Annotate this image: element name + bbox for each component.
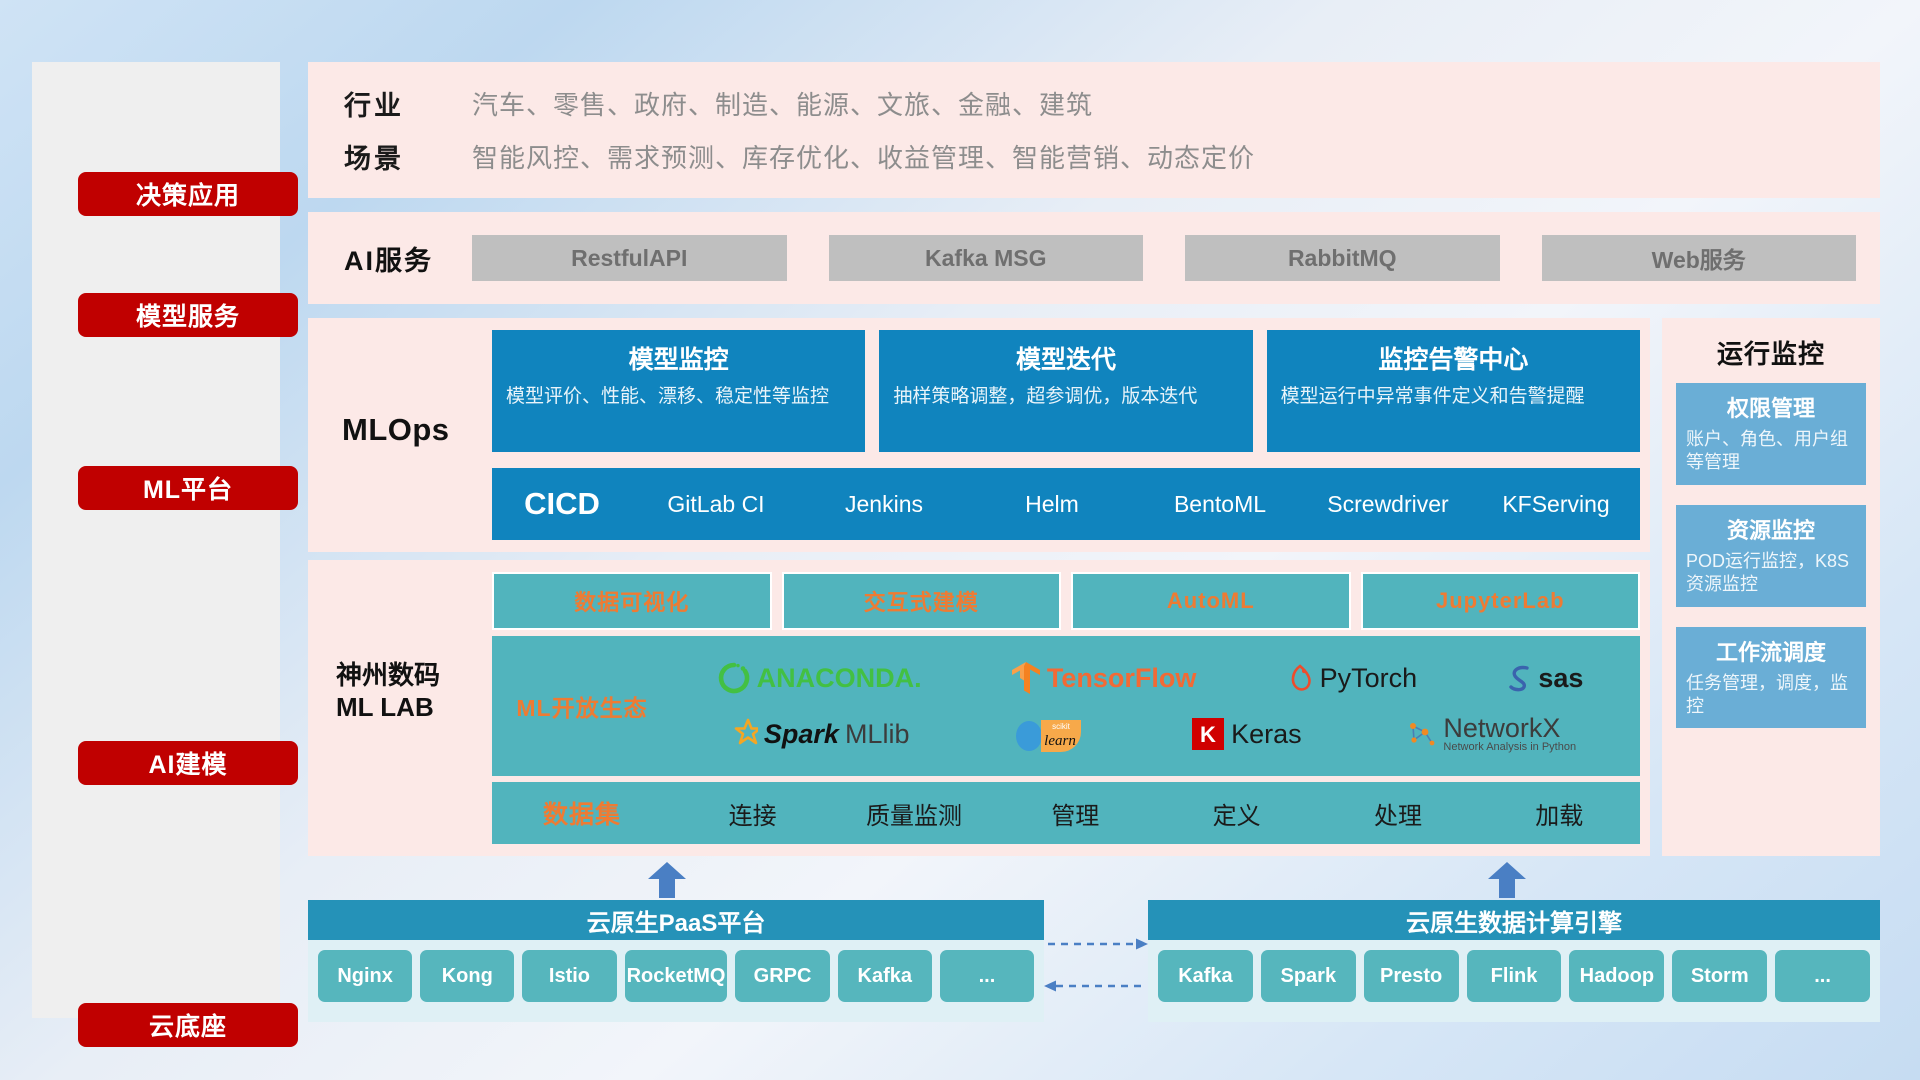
card-title: 模型监控: [506, 340, 851, 376]
pytorch-logo: PyTorch: [1286, 662, 1418, 694]
tool-data-visualization[interactable]: 数据可视化: [492, 572, 772, 630]
card-desc: POD运行监控，K8S资源监控: [1686, 550, 1856, 597]
tier-label: ML平台: [143, 470, 233, 506]
data-engine-chip-presto[interactable]: Presto: [1364, 950, 1459, 1002]
bidirectional-dashed-connector: [1044, 930, 1148, 1000]
anaconda-wordmark: ANACONDA.: [757, 663, 922, 694]
svg-text:scikit: scikit: [1052, 722, 1071, 731]
cicd-item-jenkins[interactable]: Jenkins: [800, 491, 968, 517]
dataset-item-connect[interactable]: 连接: [672, 796, 833, 831]
tier-chip-ai-modeling[interactable]: AI建模: [78, 741, 298, 785]
keras-icon: K: [1191, 717, 1225, 751]
data-engine-chip-flink[interactable]: Flink: [1467, 950, 1562, 1002]
ai-service-pill-rabbitmq[interactable]: RabbitMQ: [1185, 235, 1500, 281]
ai-service-pill-list: RestfulAPI Kafka MSG RabbitMQ Web服务: [472, 235, 1880, 281]
monitor-card-workflow-scheduling[interactable]: 工作流调度 任务管理，调度，监控: [1676, 627, 1866, 729]
decision-application-band: 行业 汽车、零售、政府、制造、能源、文旅、金融、建筑 场景 智能风控、需求预测、…: [308, 62, 1880, 198]
cicd-heading: CICD: [492, 486, 632, 522]
paas-chip-more[interactable]: ...: [940, 950, 1034, 1002]
tier-label: AI建模: [148, 745, 227, 781]
mlops-card-model-iteration[interactable]: 模型迭代 抽样策略调整，超参调优，版本迭代: [879, 330, 1252, 452]
spark-mllib-logo: Spark MLlib: [724, 718, 910, 750]
spark-wordmark: Spark: [764, 719, 839, 750]
paas-chip-list: Nginx Kong Istio RocketMQ GRPC Kafka ...: [308, 940, 1044, 1012]
industry-value: 汽车、零售、政府、制造、能源、文旅、金融、建筑: [472, 85, 1093, 122]
cicd-item-screwdriver[interactable]: Screwdriver: [1304, 491, 1472, 517]
up-arrow-data-engine-icon: [1488, 862, 1526, 898]
tool-interactive-modeling[interactable]: 交互式建模: [782, 572, 1062, 630]
cicd-item-gitlab-ci[interactable]: GitLab CI: [632, 491, 800, 517]
ml-lab-label: 神州数码 ML LAB: [336, 660, 486, 723]
anaconda-logo: ANACONDA.: [717, 661, 922, 695]
card-desc: 任务管理，调度，监控: [1686, 672, 1856, 719]
card-title: 监控告警中心: [1281, 340, 1626, 376]
cicd-item-list: GitLab CI Jenkins Helm BentoML Screwdriv…: [632, 491, 1640, 517]
ecosystem-logo-row-1: ANACONDA. TensorFlow: [672, 651, 1628, 705]
tool-jupyterlab[interactable]: JupyterLab: [1361, 572, 1641, 630]
tool-automl[interactable]: AutoML: [1071, 572, 1351, 630]
cicd-item-helm[interactable]: Helm: [968, 491, 1136, 517]
tier-label: 云底座: [149, 1007, 227, 1043]
data-engine-chip-kafka[interactable]: Kafka: [1158, 950, 1253, 1002]
networkx-wordmark: NetworkX: [1443, 715, 1576, 742]
tier-rail: 决策应用 模型服务 ML平台 AI建模 云底座: [32, 62, 280, 1018]
ml-lab-label-line2: ML LAB: [336, 692, 486, 724]
paas-chip-istio[interactable]: Istio: [522, 950, 616, 1002]
spark-star-icon: [724, 718, 758, 750]
ai-service-pill-restfulapi[interactable]: RestfulAPI: [472, 235, 787, 281]
pytorch-icon: [1286, 662, 1314, 694]
tensorflow-icon: [1011, 661, 1041, 695]
diagram-canvas: 决策应用 模型服务 ML平台 AI建模 云底座 行业 汽车、零售、政府、制造、能…: [0, 0, 1920, 1080]
dataset-item-quality-monitoring[interactable]: 质量监测: [833, 796, 994, 831]
ai-service-pill-web-service[interactable]: Web服务: [1542, 235, 1857, 281]
ml-open-ecosystem-row: ML开放生态 ANACONDA.: [492, 636, 1640, 776]
sas-icon: [1506, 663, 1532, 693]
ecosystem-logo-grid: ANACONDA. TensorFlow: [672, 651, 1640, 761]
industry-row: 行业 汽车、零售、政府、制造、能源、文旅、金融、建筑: [344, 84, 1880, 123]
industry-key: 行业: [344, 84, 472, 123]
cicd-item-kfserving[interactable]: KFServing: [1472, 491, 1640, 517]
networkx-icon: [1405, 718, 1437, 750]
scenario-key: 场景: [344, 137, 472, 176]
cicd-item-bentoml[interactable]: BentoML: [1136, 491, 1304, 517]
scenario-value: 智能风控、需求预测、库存优化、收益管理、智能营销、动态定价: [472, 138, 1255, 175]
scenario-row: 场景 智能风控、需求预测、库存优化、收益管理、智能营销、动态定价: [344, 137, 1880, 176]
networkx-tagline: Network Analysis in Python: [1443, 742, 1576, 753]
ai-service-label: AI服务: [344, 239, 472, 278]
monitor-card-resource-monitoring[interactable]: 资源监控 POD运行监控，K8S资源监控: [1676, 505, 1866, 607]
ai-modeling-band: 神州数码 ML LAB 数据可视化 交互式建模 AutoML JupyterLa…: [308, 560, 1650, 856]
cloud-native-paas-box: 云原生PaaS平台 Nginx Kong Istio RocketMQ GRPC…: [308, 900, 1044, 1022]
cloud-native-data-engine-box: 云原生数据计算引擎 Kafka Spark Presto Flink Hadoo…: [1148, 900, 1880, 1022]
card-desc: 模型运行中异常事件定义和告警提醒: [1281, 384, 1626, 409]
tier-chip-cloud-base[interactable]: 云底座: [78, 1003, 298, 1047]
tier-chip-ml-platform[interactable]: ML平台: [78, 466, 298, 510]
card-title: 权限管理: [1686, 391, 1856, 423]
data-engine-chip-storm[interactable]: Storm: [1672, 950, 1767, 1002]
tensorflow-wordmark: TensorFlow: [1047, 663, 1197, 694]
card-title: 工作流调度: [1686, 635, 1856, 667]
mlops-label: MLOps: [342, 412, 450, 448]
data-engine-chip-hadoop[interactable]: Hadoop: [1569, 950, 1664, 1002]
card-title: 资源监控: [1686, 513, 1856, 545]
tier-label: 决策应用: [136, 176, 240, 212]
runtime-monitor-card-list: 权限管理 账户、角色、用户组等管理 资源监控 POD运行监控，K8S资源监控 工…: [1662, 371, 1880, 728]
paas-chip-kafka[interactable]: Kafka: [838, 950, 932, 1002]
dataset-item-definition[interactable]: 定义: [1156, 796, 1317, 831]
mlops-card-list: 模型监控 模型评价、性能、漂移、稳定性等监控 模型迭代 抽样策略调整，超参调优，…: [492, 330, 1640, 452]
dataset-item-list: 连接 质量监测 管理 定义 处理 加载: [672, 796, 1640, 831]
svg-text:K: K: [1200, 722, 1216, 747]
monitor-card-permission-management[interactable]: 权限管理 账户、角色、用户组等管理: [1676, 383, 1866, 485]
dataset-item-processing[interactable]: 处理: [1317, 796, 1478, 831]
card-desc: 模型评价、性能、漂移、稳定性等监控: [506, 384, 851, 409]
dataset-heading: 数据集: [492, 795, 672, 831]
card-desc: 抽样策略调整，超参调优，版本迭代: [893, 384, 1238, 409]
cicd-row: CICD GitLab CI Jenkins Helm BentoML Scre…: [492, 468, 1640, 540]
data-engine-chip-list: Kafka Spark Presto Flink Hadoop Storm ..…: [1148, 940, 1880, 1012]
paas-chip-nginx[interactable]: Nginx: [318, 950, 412, 1002]
paas-chip-kong[interactable]: Kong: [420, 950, 514, 1002]
dataset-item-management[interactable]: 管理: [995, 796, 1156, 831]
mlops-band: MLOps 模型监控 模型评价、性能、漂移、稳定性等监控 模型迭代 抽样策略调整…: [308, 318, 1650, 552]
keras-logo: K Keras: [1191, 717, 1302, 751]
scikit-learn-icon: scikit learn: [1013, 714, 1087, 754]
up-arrow-paas-icon: [648, 862, 686, 898]
ai-service-pill-kafka-msg[interactable]: Kafka MSG: [829, 235, 1144, 281]
modeling-tool-list: 数据可视化 交互式建模 AutoML JupyterLab: [492, 572, 1640, 630]
networkx-logo: NetworkX Network Analysis in Python: [1405, 715, 1576, 753]
data-engine-chip-spark[interactable]: Spark: [1261, 950, 1356, 1002]
card-desc: 账户、角色、用户组等管理: [1686, 428, 1856, 475]
paas-chip-grpc[interactable]: GRPC: [735, 950, 829, 1002]
card-title: 模型迭代: [893, 340, 1238, 376]
tier-chip-decision-application[interactable]: 决策应用: [78, 172, 298, 216]
runtime-monitor-column: 运行监控 权限管理 账户、角色、用户组等管理 资源监控 POD运行监控，K8S资…: [1662, 318, 1880, 856]
tensorflow-logo: TensorFlow: [1011, 661, 1197, 695]
tier-label: 模型服务: [136, 297, 240, 333]
anaconda-icon: [717, 661, 751, 695]
scikit-learn-logo: scikit learn: [1013, 714, 1087, 754]
data-engine-title: 云原生数据计算引擎: [1148, 900, 1880, 940]
svg-text:learn: learn: [1044, 733, 1076, 749]
dataset-row: 数据集 连接 质量监测 管理 定义 处理 加载: [492, 782, 1640, 844]
mlops-card-model-monitoring[interactable]: 模型监控 模型评价、性能、漂移、稳定性等监控: [492, 330, 865, 452]
paas-title: 云原生PaaS平台: [308, 900, 1044, 940]
runtime-monitor-title: 运行监控: [1662, 318, 1880, 371]
dataset-item-loading[interactable]: 加载: [1479, 796, 1640, 831]
sas-logo: sas: [1506, 663, 1583, 694]
data-engine-chip-more[interactable]: ...: [1775, 950, 1870, 1002]
ai-service-band: AI服务 RestfulAPI Kafka MSG RabbitMQ Web服务: [308, 212, 1880, 304]
pytorch-wordmark: PyTorch: [1320, 663, 1418, 694]
keras-wordmark: Keras: [1231, 719, 1302, 750]
mlops-card-alert-center[interactable]: 监控告警中心 模型运行中异常事件定义和告警提醒: [1267, 330, 1640, 452]
paas-chip-rocketmq[interactable]: RocketMQ: [625, 950, 728, 1002]
mllib-wordmark: MLlib: [845, 719, 910, 750]
ml-open-ecosystem-label: ML开放生态: [492, 689, 672, 723]
sas-wordmark: sas: [1538, 663, 1583, 694]
ecosystem-logo-row-2: Spark MLlib scikit learn: [672, 707, 1628, 761]
ml-lab-label-line1: 神州数码: [336, 660, 486, 692]
tier-chip-model-service[interactable]: 模型服务: [78, 293, 298, 337]
